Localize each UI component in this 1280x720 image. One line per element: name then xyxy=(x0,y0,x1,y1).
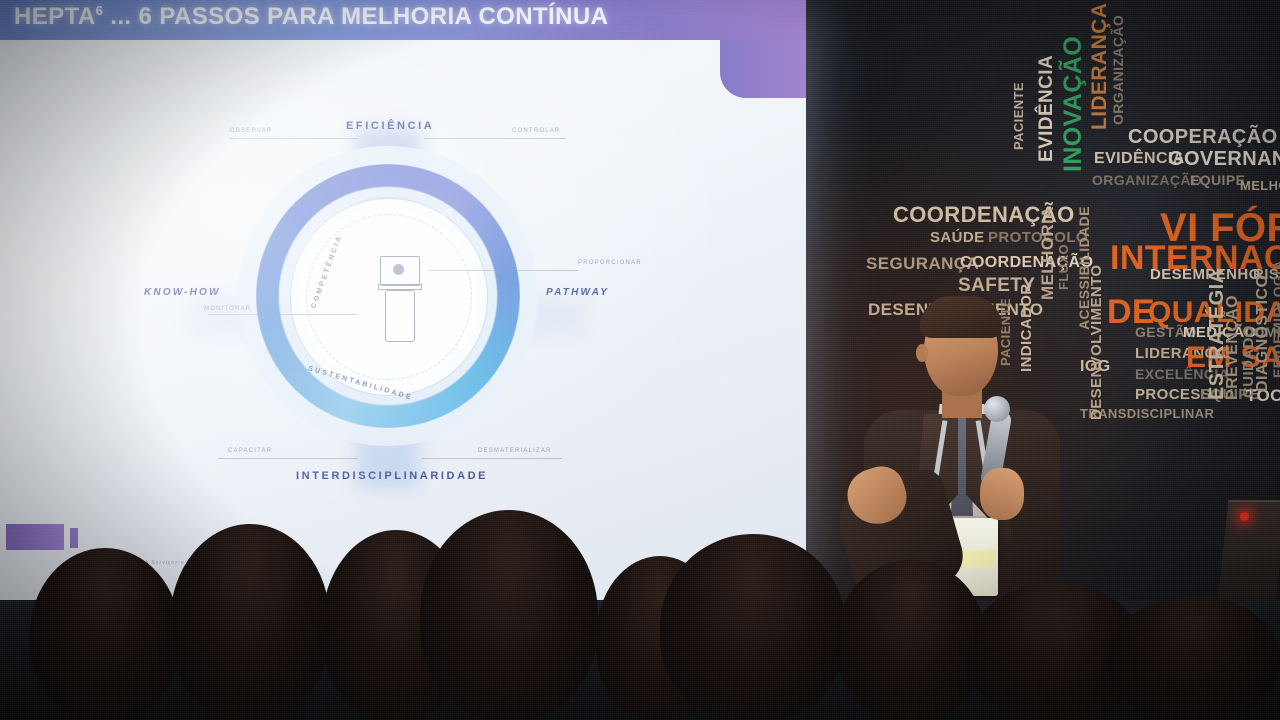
audience-head xyxy=(420,510,598,720)
speaker-hair xyxy=(920,296,1002,338)
word-cloud-term: FLUXO xyxy=(1058,244,1070,290)
diagram-small-label-5: MONITORAR xyxy=(204,306,251,312)
microphone-head-icon xyxy=(984,396,1010,422)
leader-line-6 xyxy=(422,458,562,459)
diagram-small-label-0: OBSERVAR xyxy=(230,128,272,134)
word-cloud-term: DIAGNÓSTICO xyxy=(1256,275,1271,392)
word-cloud-term: EQUIPE xyxy=(1190,174,1245,187)
audience-head xyxy=(30,548,180,720)
speaker-right-hand xyxy=(980,468,1024,520)
word-cloud-term: PACIENTE xyxy=(1013,82,1025,150)
podium-led-indicator xyxy=(1240,512,1249,521)
word-cloud-term: INOVAÇÃO xyxy=(1062,36,1085,172)
audience-head xyxy=(170,524,330,720)
leader-line-1 xyxy=(230,138,358,139)
word-cloud-term: ORGANIZAÇÃO xyxy=(1112,15,1125,125)
word-cloud-term: PREVENÇÃO xyxy=(1226,295,1241,400)
projection-screen: HEPTA6 ... 6 PASSOS PARA MELHORIA CONTÍN… xyxy=(0,0,806,600)
diagram-label-left: KNOW-HOW xyxy=(144,287,221,298)
diagram-small-label-4: CAPACITAR xyxy=(228,448,272,454)
audience-head xyxy=(660,534,846,720)
diagram-small-label-3: DESMATERIALIZAR xyxy=(478,448,552,454)
hepta-logo xyxy=(6,524,64,550)
diagram-label-bottom: INTERDISCIPLINARIDADE xyxy=(296,470,488,482)
word-cloud-term: LIDERANÇA xyxy=(1090,3,1109,130)
leader-line-3 xyxy=(428,270,578,271)
leader-line-5 xyxy=(218,458,358,459)
conference-photo: PACIENTEEVIDÊNCIAINOVAÇÃOLIDERANÇAORGANI… xyxy=(0,0,1280,720)
diagram-small-label-2: PROPORCIONAR xyxy=(578,260,642,266)
audience-head xyxy=(836,560,986,720)
word-cloud-term: MELHORIA xyxy=(1040,206,1056,300)
patient-person-icon xyxy=(376,256,422,342)
speaker-ear xyxy=(916,344,928,362)
word-cloud-term: EPIDEMIOLOGIA xyxy=(1272,260,1280,378)
diagram-label-right: PATHWAY xyxy=(546,287,609,298)
word-cloud-term: COOPERAÇÃO xyxy=(1128,128,1278,146)
leader-line-4 xyxy=(208,314,358,315)
leader-line-2 xyxy=(424,138,566,139)
hepta-logo-bar xyxy=(70,528,78,548)
slide-title-main: HEPTA xyxy=(14,3,96,30)
word-cloud-term: MELHORIA xyxy=(1240,180,1280,192)
word-cloud-term: EVIDÊNCIA xyxy=(1038,55,1055,162)
word-cloud-term: ORGANIZAÇÃO xyxy=(1092,174,1202,187)
word-cloud-term: GOVERNANÇA xyxy=(1168,150,1280,168)
word-cloud-term: DESENVOLVIMENTO xyxy=(1090,265,1104,420)
word-cloud-term: COORDENAÇÃO xyxy=(960,256,1093,271)
slide-title-rest: ... 6 PASSOS PARA MELHORIA CONTÍNUA xyxy=(103,3,608,30)
diagram-small-label-1: CONTROLAR xyxy=(512,128,560,134)
slide-header-corner xyxy=(720,40,806,98)
word-cloud-term: SAÚDE xyxy=(930,231,985,245)
hepta-cycle-diagram: QUALIDADE INFORMAÇÃO SUSTENTABILIDADE CO… xyxy=(178,118,598,498)
audience-head xyxy=(1108,596,1280,720)
slide-title: HEPTA6 ... 6 PASSOS PARA MELHORIA CONTÍN… xyxy=(14,3,608,31)
diagram-label-top: EFICIÊNCIA xyxy=(346,120,434,132)
